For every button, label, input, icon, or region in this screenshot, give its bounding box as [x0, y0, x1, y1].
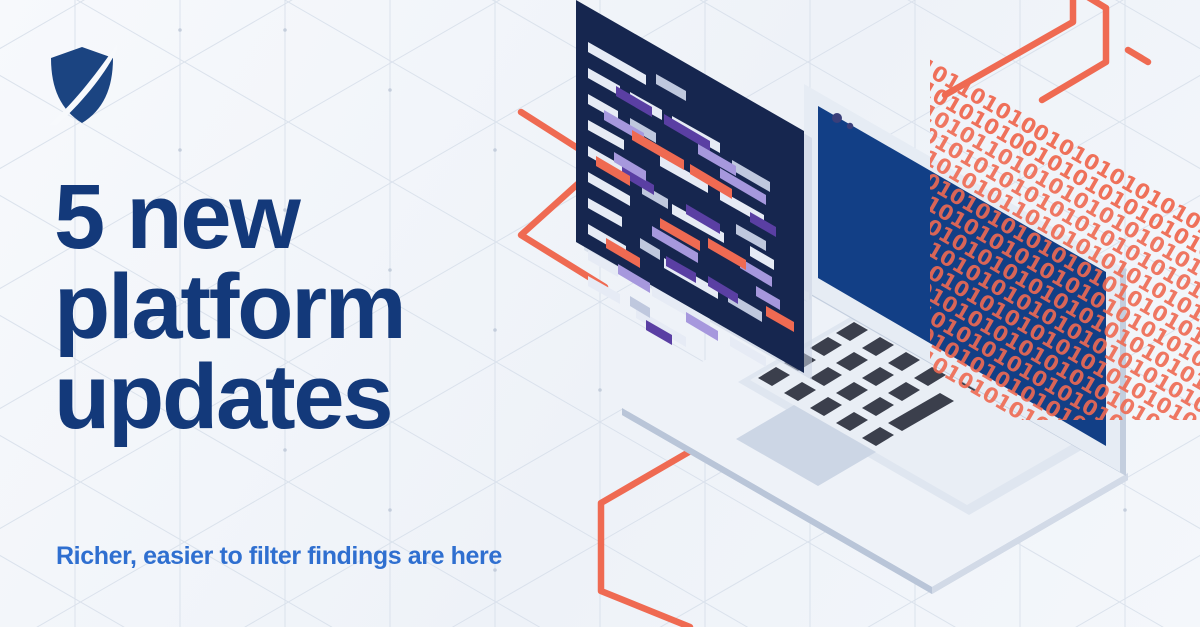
webcam-icon: [832, 113, 842, 123]
page-title: 5 new platform updates: [54, 172, 574, 442]
webcam-indicator-icon: [847, 123, 853, 129]
isometric-laptop-illustration: [560, 0, 1200, 627]
promo-banner: 5 new platform updates Richer, easier to…: [0, 0, 1200, 627]
page-subtitle: Richer, easier to filter findings are he…: [56, 542, 502, 571]
shield-swoosh-logo[interactable]: [47, 44, 117, 126]
code-window-icon: [576, 0, 812, 380]
